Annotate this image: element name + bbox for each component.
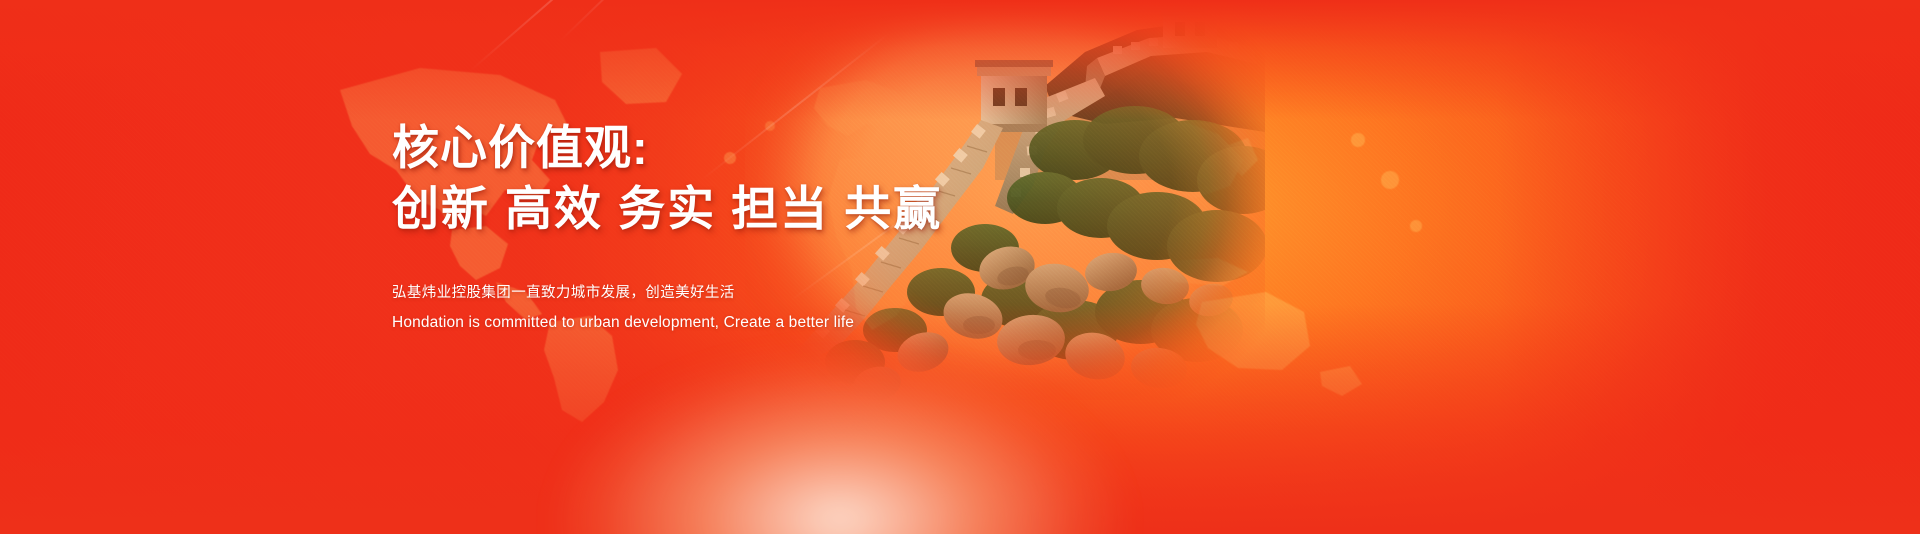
background-top-wash (0, 0, 1920, 120)
banner-copy: 核心价值观: 创新 高效 务实 担当 共赢 弘基炜业控股集团一直致力城市发展，创… (392, 122, 1012, 334)
banner-subtitle-chinese: 弘基炜业控股集团一直致力城市发展，创造美好生活 (392, 283, 1012, 305)
banner-headline-primary: 核心价值观: (392, 122, 1012, 175)
hero-banner: 核心价值观: 创新 高效 务实 担当 共赢 弘基炜业控股集团一直致力城市发展，创… (0, 0, 1920, 534)
banner-subtitle-english: Hondation is committed to urban developm… (392, 311, 1012, 334)
banner-headline-values: 创新 高效 务实 担当 共赢 (392, 181, 1012, 237)
